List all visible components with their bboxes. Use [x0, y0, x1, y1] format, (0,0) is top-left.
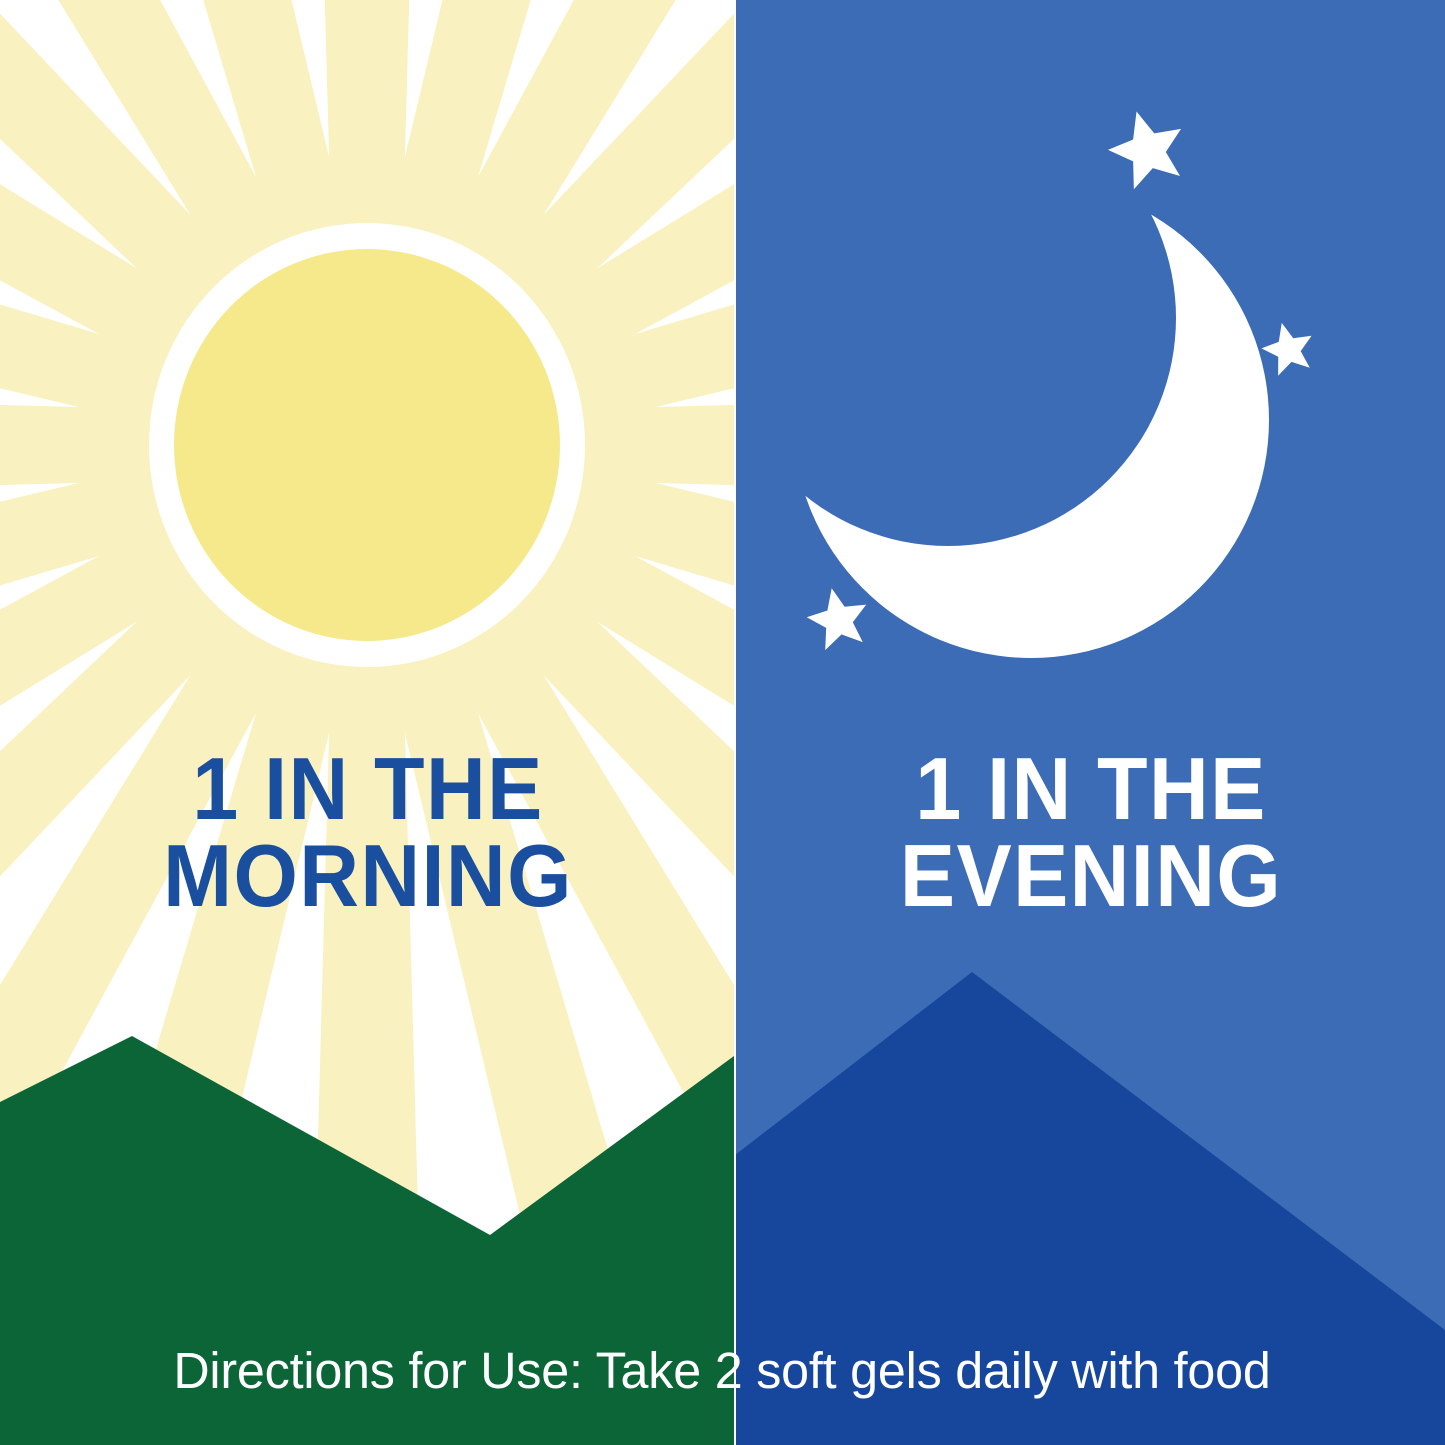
morning-headline: 1 IN THE MORNING	[50, 745, 685, 919]
evening-panel: 1 IN THE EVENING	[736, 0, 1445, 1445]
morning-artwork	[0, 0, 734, 1445]
evening-artwork	[736, 0, 1445, 1445]
blue-mountain-skirt	[736, 1160, 786, 1445]
morning-panel: 1 IN THE MORNING	[0, 0, 734, 1445]
sun-icon	[174, 249, 560, 641]
product-infographic: 1 IN THE MORNING	[0, 0, 1445, 1445]
evening-headline: 1 IN THE EVENING	[776, 745, 1406, 919]
